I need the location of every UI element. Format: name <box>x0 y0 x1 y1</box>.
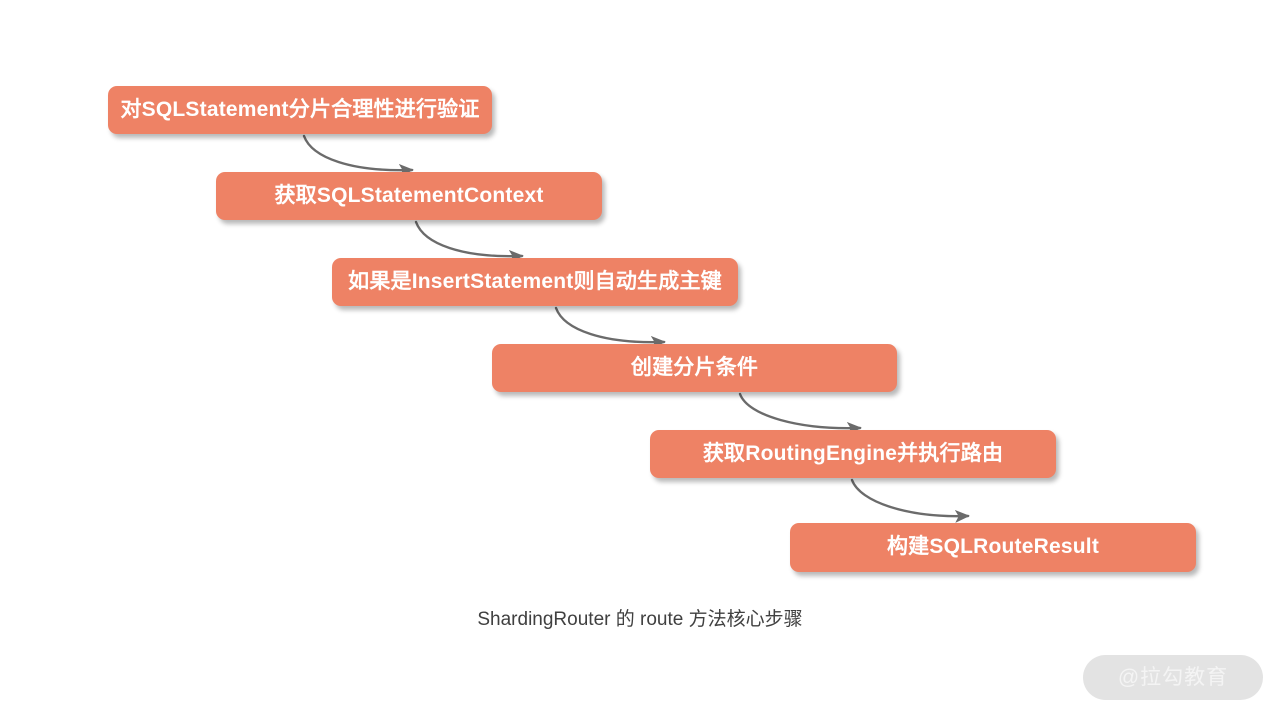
flow-step-4-label: 创建分片条件 <box>631 357 758 380</box>
flow-step-2[interactable]: 获取SQLStatementContext <box>216 172 602 220</box>
flow-step-1-label: 对SQLStatement分片合理性进行验证 <box>120 99 479 122</box>
flow-step-2-label: 获取SQLStatementContext <box>274 185 543 208</box>
flow-step-3-label: 如果是InsertStatement则自动生成主键 <box>348 271 722 294</box>
connector-2-to-3 <box>416 222 522 256</box>
connector-4-to-5 <box>740 394 860 428</box>
watermark-badge: @拉勾教育 <box>1083 655 1263 700</box>
flow-step-1[interactable]: 对SQLStatement分片合理性进行验证 <box>108 86 492 134</box>
flow-step-5[interactable]: 获取RoutingEngine并执行路由 <box>650 430 1056 478</box>
flow-step-3[interactable]: 如果是InsertStatement则自动生成主键 <box>332 258 738 306</box>
diagram-caption: ShardingRouter 的 route 方法核心步骤 <box>0 604 1280 631</box>
flow-step-4[interactable]: 创建分片条件 <box>492 344 897 392</box>
flow-step-6-label: 构建SQLRouteResult <box>887 536 1099 559</box>
connector-5-to-6 <box>852 480 968 516</box>
watermark-text: @拉勾教育 <box>1118 667 1228 688</box>
flow-step-6[interactable]: 构建SQLRouteResult <box>790 523 1196 572</box>
flow-step-5-label: 获取RoutingEngine并执行路由 <box>703 443 1003 466</box>
connector-3-to-4 <box>556 308 664 342</box>
connector-1-to-2 <box>304 136 412 170</box>
diagram-canvas: 对SQLStatement分片合理性进行验证 获取SQLStatementCon… <box>0 0 1280 720</box>
